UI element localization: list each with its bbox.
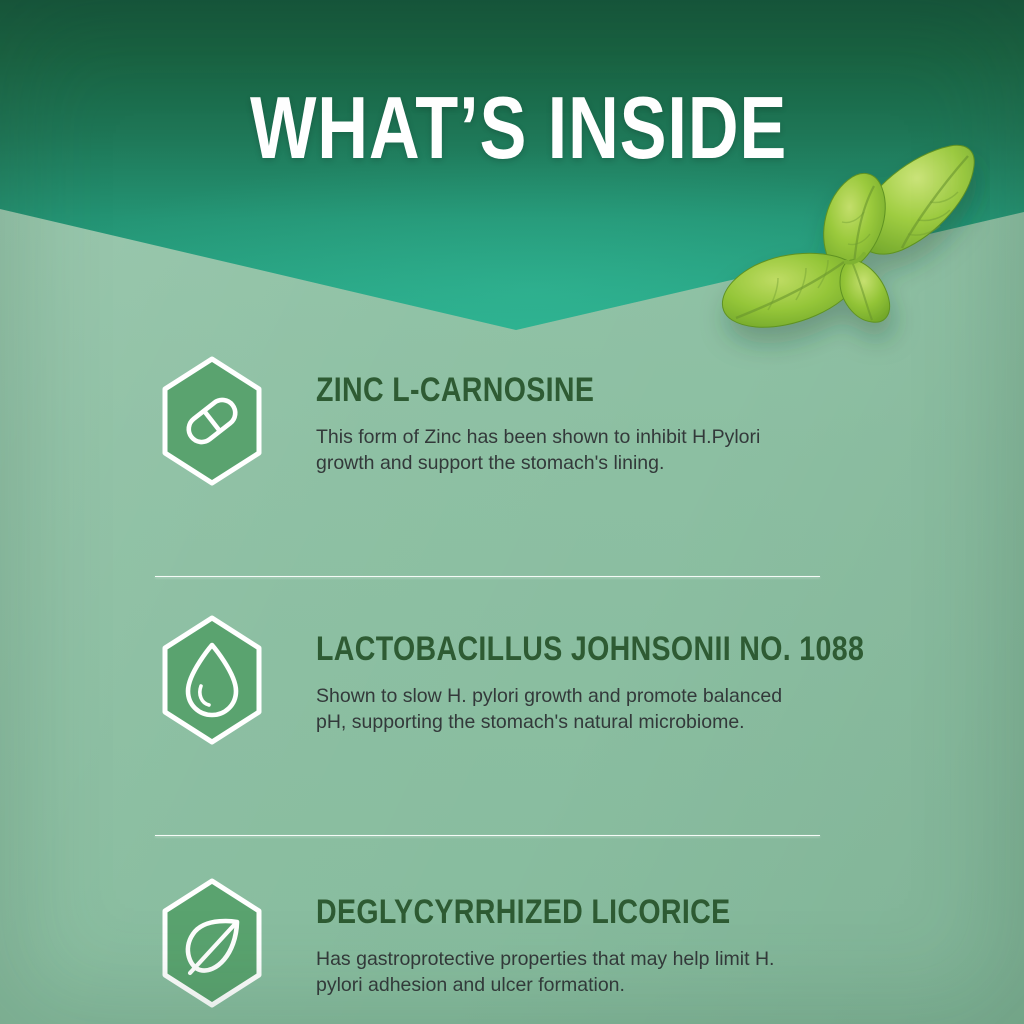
ingredient-list: ZINC L-CARNOSINE This form of Zinc has b… <box>0 352 1024 1024</box>
capsule-icon <box>160 356 264 486</box>
ingredient-copy: LACTOBACILLUS JOHNSONII NO. 1088 Shown t… <box>316 611 916 735</box>
ingredient-title: LACTOBACILLUS JOHNSONII NO. 1088 <box>316 631 820 667</box>
row-spacer <box>0 801 1024 835</box>
divider-2 <box>155 835 820 836</box>
ingredient-description: Shown to slow H. pylori growth and promo… <box>316 683 786 735</box>
list-item[interactable]: ZINC L-CARNOSINE This form of Zinc has b… <box>0 352 1024 542</box>
basil-leaves-group <box>722 145 974 327</box>
ingredient-title: ZINC L-CARNOSINE <box>316 372 711 408</box>
leaf-icon <box>160 878 264 1008</box>
divider-1 <box>155 576 820 577</box>
ingredient-description: Has gastroprotective properties that may… <box>316 946 786 998</box>
ingredient-title: DEGLYCYRRHIZED LICORICE <box>316 894 730 930</box>
list-item[interactable]: LACTOBACILLUS JOHNSONII NO. 1088 Shown t… <box>0 611 1024 801</box>
droplet-icon <box>160 615 264 745</box>
ingredient-copy: ZINC L-CARNOSINE This form of Zinc has b… <box>316 352 786 476</box>
basil-sprig <box>650 140 990 370</box>
row-spacer <box>0 542 1024 576</box>
list-item[interactable]: DEGLYCYRRHIZED LICORICE Has gastroprotec… <box>0 874 1024 1024</box>
ingredient-copy: DEGLYCYRRHIZED LICORICE Has gastroprotec… <box>316 874 809 998</box>
infographic-canvas: WHAT’S INSIDE <box>0 0 1024 1024</box>
ingredient-description: This form of Zinc has been shown to inhi… <box>316 424 786 476</box>
